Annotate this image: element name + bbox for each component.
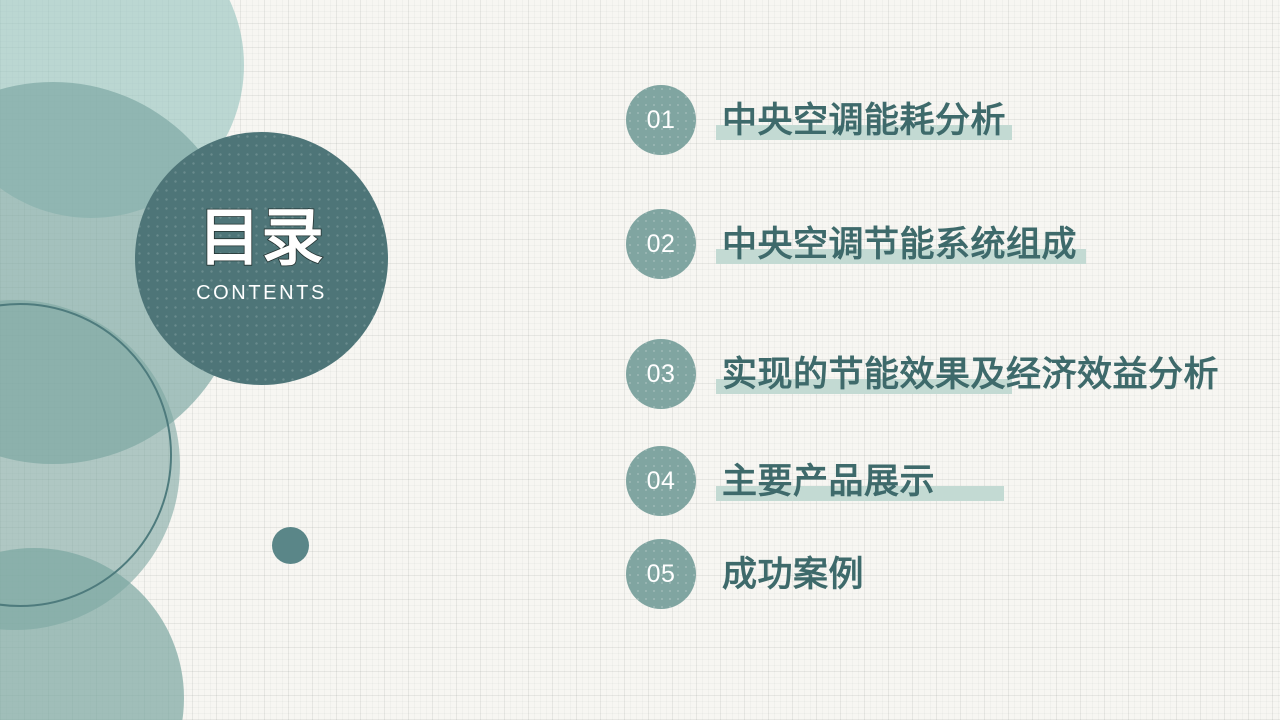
toc-label-wrapper: 成功案例 [722, 539, 864, 609]
contents-slide: 目录 CONTENTS 01 中央空调能耗分析 02 中央空调节能系统组成 03… [0, 0, 1280, 720]
toc-entry-05[interactable]: 05 成功案例 [626, 539, 864, 609]
toc-entry-03[interactable]: 03 实现的节能效果及经济效益分析 [626, 339, 1219, 409]
page-title-chinese: 目录 [198, 208, 324, 270]
toc-entry-label: 成功案例 [722, 557, 864, 592]
toc-number-badge: 01 [626, 85, 696, 155]
toc-entry-01[interactable]: 01 中央空调能耗分析 [626, 85, 1006, 155]
toc-label-wrapper: 中央空调能耗分析 [722, 85, 1006, 155]
page-title-english: CONTENTS [196, 283, 327, 303]
toc-label-wrapper: 主要产品展示 [722, 446, 935, 516]
table-of-contents: 01 中央空调能耗分析 02 中央空调节能系统组成 03 实现的节能效果及经济效… [626, 0, 1280, 720]
toc-entry-label: 实现的节能效果及经济效益分析 [722, 357, 1219, 392]
toc-label-wrapper: 中央空调节能系统组成 [722, 209, 1077, 279]
toc-number-badge: 05 [626, 539, 696, 609]
toc-entry-04[interactable]: 04 主要产品展示 [626, 446, 935, 516]
toc-entry-label: 主要产品展示 [722, 464, 935, 499]
toc-number-badge: 02 [626, 209, 696, 279]
toc-entry-label: 中央空调节能系统组成 [722, 227, 1077, 262]
decorative-dot [272, 527, 309, 564]
toc-number-badge: 03 [626, 339, 696, 409]
toc-label-wrapper: 实现的节能效果及经济效益分析 [722, 339, 1219, 409]
contents-heading-circle: 目录 CONTENTS [135, 132, 388, 385]
toc-number-badge: 04 [626, 446, 696, 516]
toc-entry-02[interactable]: 02 中央空调节能系统组成 [626, 209, 1077, 279]
toc-entry-label: 中央空调能耗分析 [722, 103, 1006, 138]
